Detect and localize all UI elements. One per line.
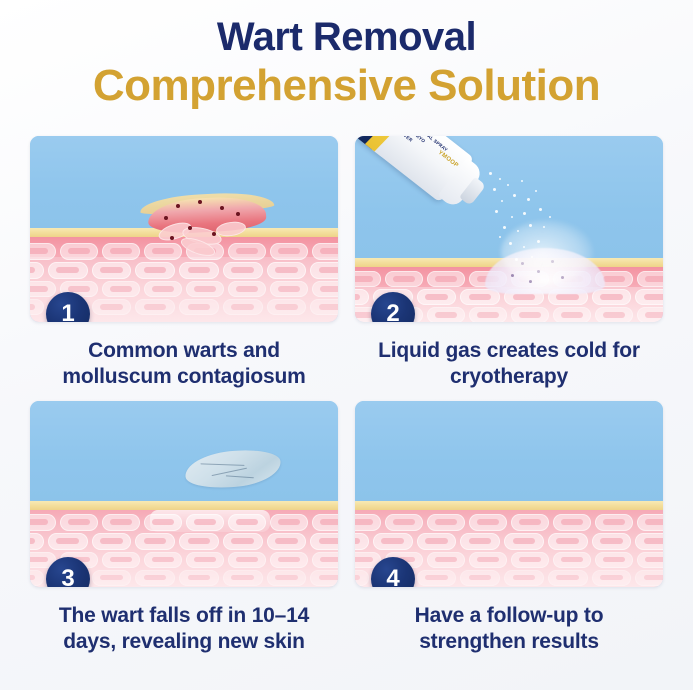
step-illustration-1: 1 — [30, 136, 338, 322]
steps-grid: 1 Common warts and molluscum contagiosum — [30, 136, 663, 655]
step-illustration-3: 3 — [30, 401, 338, 587]
step-card-2: WART REMOVAL SPRAY FREEZE CRYO RECOVER Y… — [355, 136, 663, 391]
page-title-line1: Wart Removal — [0, 16, 693, 59]
epidermis-layer — [355, 501, 663, 510]
step-card-4: 4 Have a follow-up to strengthen results — [355, 401, 663, 656]
step-illustration-4: 4 — [355, 401, 663, 587]
air-layer — [30, 401, 338, 505]
step-illustration-2: WART REMOVAL SPRAY FREEZE CRYO RECOVER Y… — [355, 136, 663, 322]
air-layer — [355, 401, 663, 505]
step-caption-1: Common warts and molluscum contagiosum — [30, 338, 338, 391]
page-title-line2: Comprehensive Solution — [0, 61, 693, 110]
step-caption-2: Liquid gas creates cold for cryotherapy — [355, 338, 663, 391]
step-caption-3: The wart falls off in 10–14 days, reveal… — [30, 603, 338, 656]
header: Wart Removal Comprehensive Solution — [0, 0, 693, 110]
step-caption-4: Have a follow-up to strengthen results — [355, 603, 663, 656]
infographic-root: Wart Removal Comprehensive Solution — [0, 0, 693, 690]
can-label-text: WART REMOVAL SPRAY FREEZE CRYO RECOVER — [379, 136, 451, 181]
epidermis-layer — [30, 501, 338, 510]
step-card-3: 3 The wart falls off in 10–14 days, reve… — [30, 401, 338, 656]
step-card-1: 1 Common warts and molluscum contagiosum — [30, 136, 338, 391]
